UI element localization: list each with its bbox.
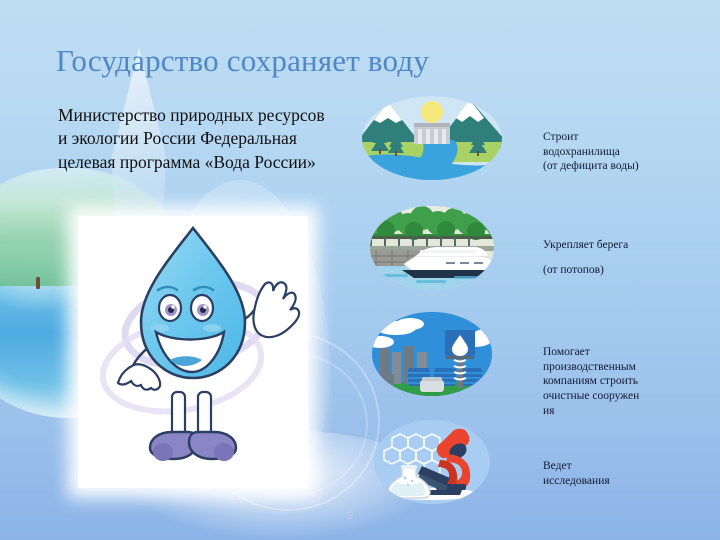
slide-body-text: Министерство природных ресурсов и эколог… — [58, 104, 338, 174]
caption-line: производственным — [543, 361, 636, 373]
caption-line: Укрепляет берега — [543, 239, 628, 251]
reservoir-dam-mountains-icon — [362, 96, 502, 180]
water-drop-mascot — [78, 216, 308, 492]
caption-line: (от дефицита воды) — [543, 160, 639, 172]
caption-line: компаниям строить — [543, 375, 638, 387]
water-treatment-plant-icon — [362, 312, 502, 396]
microscope-research-icon — [362, 420, 502, 504]
presentation-slide: Государство сохраняет воду Министерство … — [0, 0, 720, 540]
slide-title: Государство сохраняет воду — [56, 44, 616, 79]
slide-number: 9 — [330, 508, 370, 522]
embankment-ship-icon — [362, 206, 502, 290]
caption-reservoir: Строит водохранилища (от дефицита воды) — [543, 130, 715, 174]
caption-line: очистные сооружен — [543, 390, 639, 402]
background-tree-icon — [10, 236, 66, 280]
caption-line: водохранилища — [543, 146, 620, 158]
caption-research: Ведет исследования — [543, 459, 715, 488]
caption-treatment: Помогает производственным компаниям стро… — [543, 345, 715, 419]
caption-line: Ведет — [543, 460, 572, 472]
caption-embankment: Укрепляет берега (от потопов) — [543, 238, 715, 277]
caption-line: исследования — [543, 475, 610, 487]
caption-line: ия — [543, 405, 554, 417]
caption-line: (от потопов) — [543, 264, 604, 276]
caption-line: Помогает — [543, 346, 590, 358]
caption-line: Строит — [543, 131, 578, 143]
